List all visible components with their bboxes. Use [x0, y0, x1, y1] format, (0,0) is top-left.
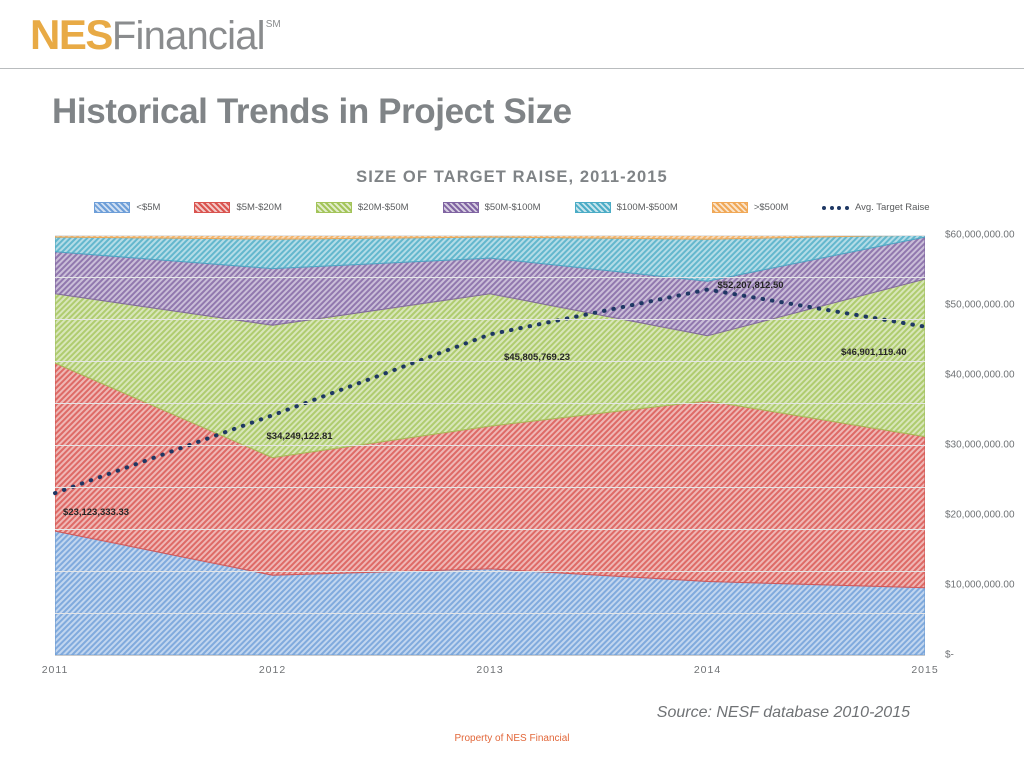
legend-item-avg-target-raise[interactable]: Avg. Target Raise	[822, 202, 929, 213]
chart-plot-area: 0%10%20%30%40%50%60%70%80%90%100%$-$10,0…	[55, 235, 925, 655]
avg-target-raise-path	[55, 290, 925, 494]
gridline	[55, 403, 925, 404]
chart-title: SIZE OF TARGET RAISE, 2011-2015	[0, 168, 1024, 187]
legend-item-4[interactable]: $50M-$100M	[443, 202, 541, 213]
chart-plot-inner: 0%10%20%30%40%50%60%70%80%90%100%$-$10,0…	[55, 235, 925, 655]
logo-trademark-text: SM	[266, 19, 281, 30]
x-axis-tick-label: 2014	[694, 664, 721, 676]
slide-header: NES Financial SM	[0, 0, 1024, 69]
gridline	[55, 529, 925, 530]
x-axis-tick-label: 2011	[42, 664, 69, 676]
legend-swatch-icon	[194, 202, 230, 213]
footer-note: Property of NES Financial	[0, 733, 1024, 744]
legend-item-1[interactable]: <$5M	[94, 202, 160, 213]
legend-swatch-icon	[443, 202, 479, 213]
legend-item-2[interactable]: $5M-$20M	[194, 202, 281, 213]
gridline	[55, 319, 925, 320]
gridline	[55, 361, 925, 362]
data-point-label: $52,207,812.50	[718, 280, 784, 291]
secondary-y-axis-tick-label: $20,000,000.00	[945, 510, 1015, 521]
x-axis-tick-label: 2012	[259, 664, 286, 676]
data-point-label: $46,901,119.40	[841, 347, 907, 358]
secondary-y-axis-tick-label: $40,000,000.00	[945, 370, 1015, 381]
x-axis-tick-label: 2015	[911, 664, 938, 676]
data-point-label: $34,249,122.81	[267, 431, 333, 442]
logo-secondary-text: Financial	[112, 15, 265, 57]
chart-container: SIZE OF TARGET RAISE, 2011-2015 <$5M$5M-…	[0, 160, 1024, 680]
secondary-y-axis-tick-label: $50,000,000.00	[945, 300, 1015, 311]
legend-label: $100M-$500M	[617, 202, 678, 213]
secondary-y-axis-tick-label: $30,000,000.00	[945, 440, 1015, 451]
source-note: Source: NESF database 2010-2015	[657, 704, 910, 722]
gridline	[55, 487, 925, 488]
gridline	[55, 571, 925, 572]
gridline	[55, 277, 925, 278]
legend-swatch-icon	[712, 202, 748, 213]
data-point-label: $23,123,333.33	[63, 507, 129, 518]
legend-swatch-icon	[575, 202, 611, 213]
legend-item-5[interactable]: $100M-$500M	[575, 202, 678, 213]
legend-swatch-icon	[316, 202, 352, 213]
legend-item-3[interactable]: $20M-$50M	[316, 202, 409, 213]
legend-label: Avg. Target Raise	[855, 202, 930, 213]
legend-label: $20M-$50M	[358, 202, 409, 213]
legend-label: >$500M	[754, 202, 789, 213]
avg-target-raise-line	[55, 235, 955, 675]
x-axis-tick-label: 2013	[476, 664, 503, 676]
legend-item-6[interactable]: >$500M	[712, 202, 789, 213]
gridline	[55, 235, 925, 236]
gridline	[55, 613, 925, 614]
nes-financial-logo: NES Financial SM	[30, 14, 280, 58]
legend-label: $5M-$20M	[236, 202, 281, 213]
page-title: Historical Trends in Project Size	[52, 92, 572, 132]
legend-label: <$5M	[136, 202, 160, 213]
dotted-line-icon	[822, 206, 849, 210]
legend-swatch-icon	[94, 202, 130, 213]
logo-primary-text: NES	[30, 14, 112, 56]
secondary-y-axis-tick-label: $60,000,000.00	[945, 230, 1015, 241]
chart-legend: <$5M$5M-$20M$20M-$50M$50M-$100M$100M-$50…	[0, 202, 1024, 213]
legend-label: $50M-$100M	[485, 202, 541, 213]
secondary-y-axis-tick-label: $10,000,000.00	[945, 580, 1015, 591]
gridline	[55, 445, 925, 446]
data-point-label: $45,805,769.23	[504, 352, 570, 363]
secondary-y-axis-tick-label: $-	[945, 650, 954, 661]
